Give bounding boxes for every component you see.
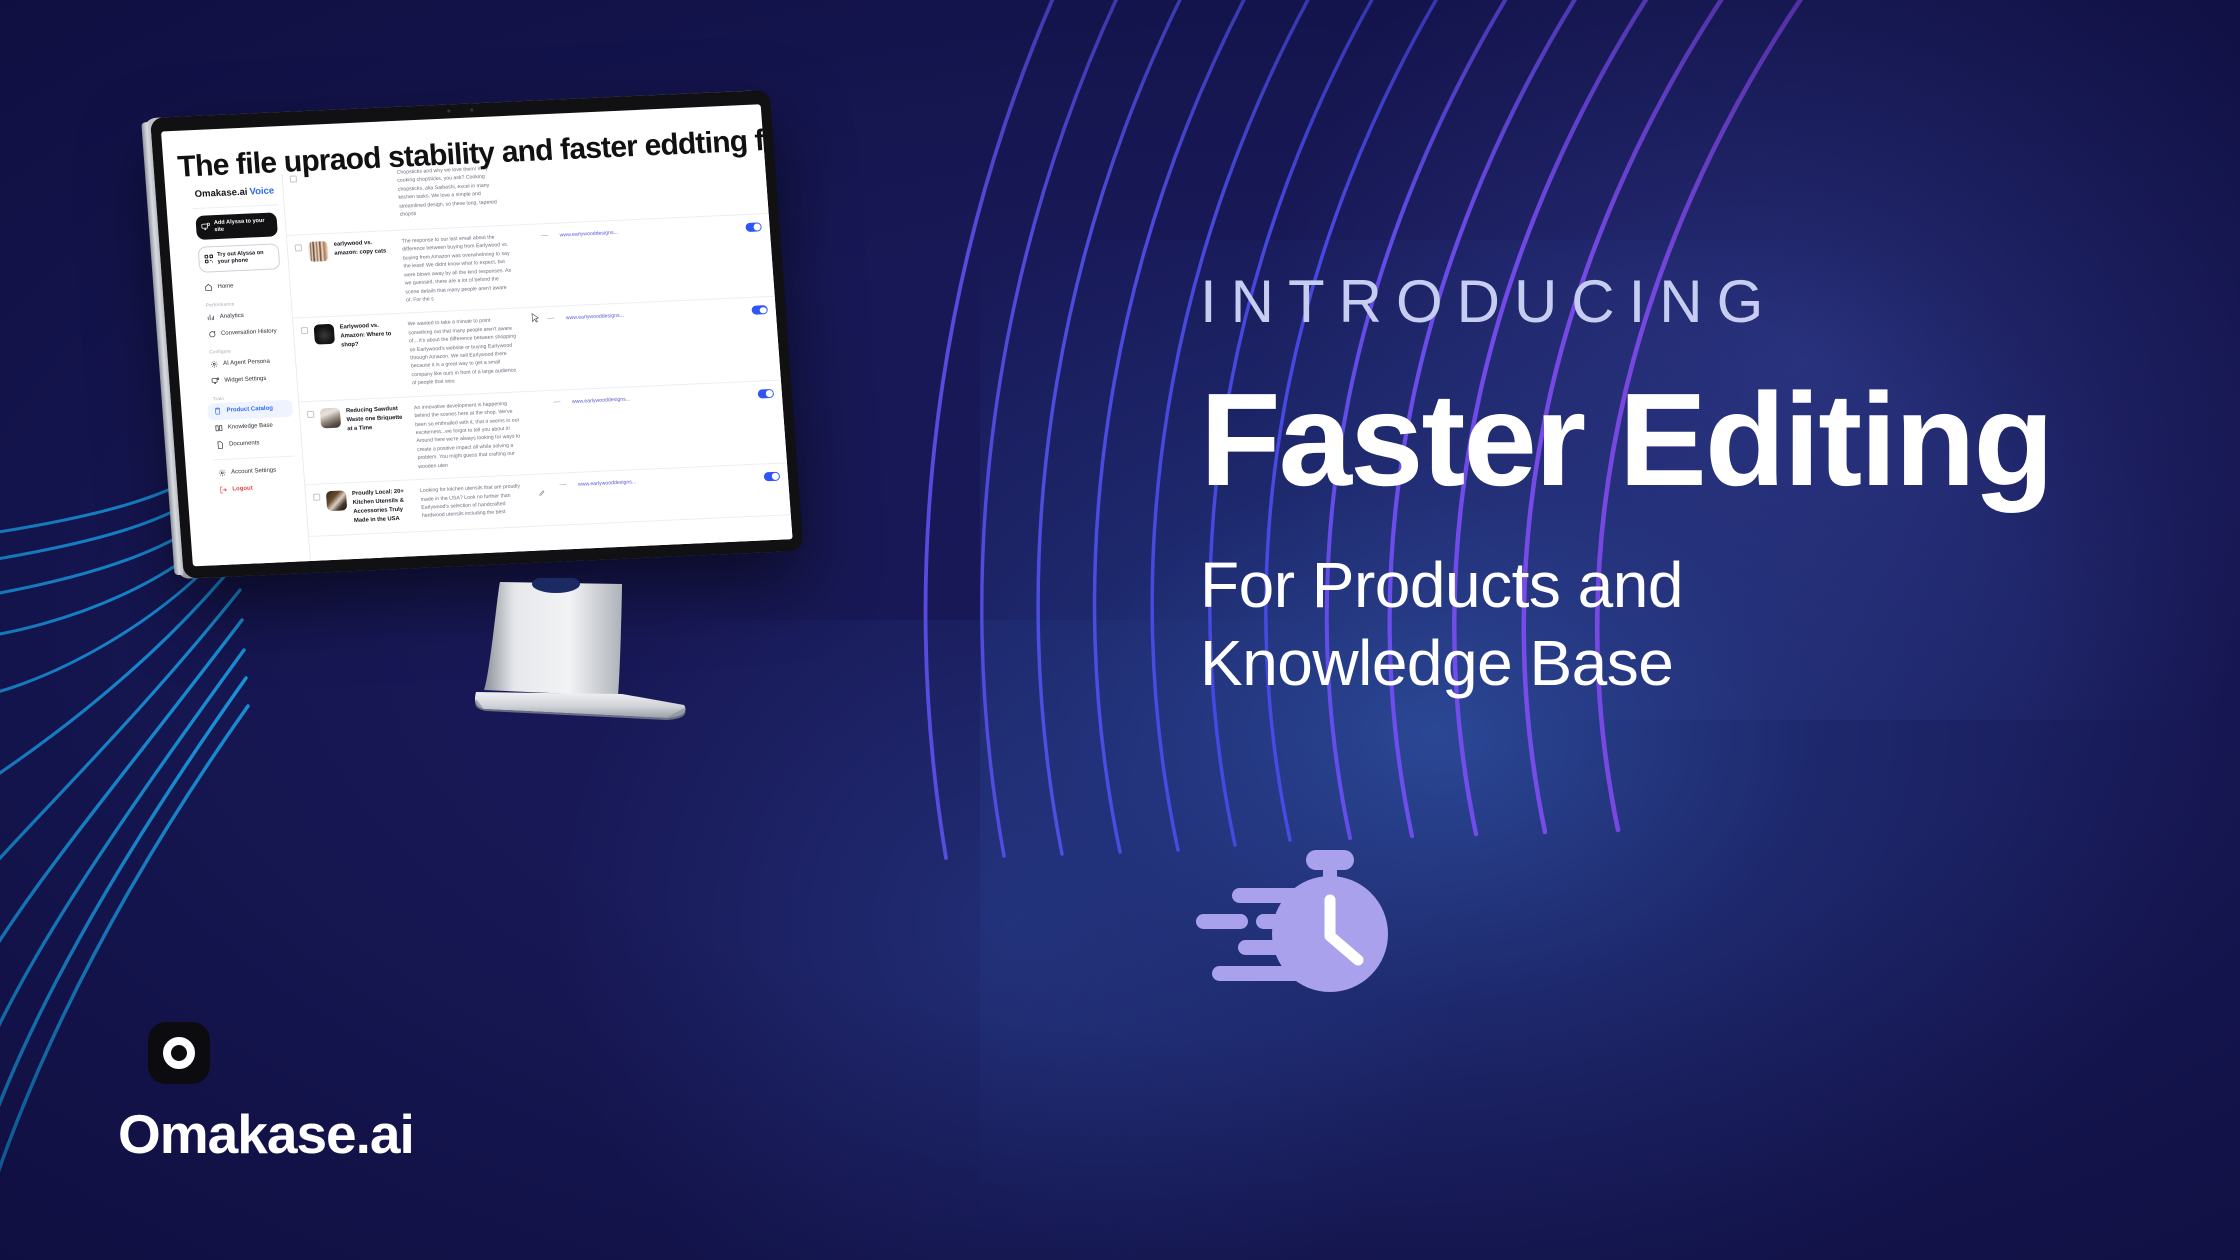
sidebar-label-documents: Documents [229,441,260,448]
promo-text-block: INTRODUCING Faster Editing For Products … [1200,272,2210,702]
row-thumbnail [320,407,341,428]
row-title: earlywood vs. amazon: copy cats [333,238,396,259]
webcam-dots [447,108,473,113]
row-checkbox[interactable] [301,327,309,334]
row-thumbnail [314,324,335,345]
try-alyssa-label: Try out Alyssa on your phone [217,249,274,265]
subheadline-line-2: Knowledge Base [1200,624,2210,702]
row-enabled-toggle[interactable] [757,388,774,399]
row-edit-icon-slot [515,232,529,235]
row-title: Reducing Sawdust Waste one Briquette at … [346,404,410,434]
sidebar-logo[interactable]: Omakase.aiVoice [191,180,278,209]
qr-code-icon [204,255,214,264]
sidebar-label-home: Home [217,284,233,291]
sidebar-label-logout: Logout [232,486,253,493]
clipboard-icon [213,407,222,415]
subheadline-text: For Products and Knowledge Base [1200,546,2210,702]
pencil-icon [538,489,546,496]
subheadline-line-1: For Products and [1200,546,2210,624]
monitor-gear-icon [211,377,220,385]
sidebar-divider [213,456,294,461]
omakase-ring-logo [148,1022,210,1084]
add-alyssa-to-site-button[interactable]: Add Alyssa to your site [195,212,278,240]
logout-icon [219,486,228,494]
sidebar-label-product-catalog: Product Catalog [226,406,273,414]
stopwatch-speed-icon [1190,838,1430,998]
promo-graphic: The file upraod stability and faster edd… [0,0,2240,1260]
sidebar-label-conversation-history: Conversation History [221,329,277,338]
row-edit-button[interactable] [534,481,549,502]
brand-name: Omakase.ai [118,1102,538,1166]
omakase-app-window: Omakase.aiVoice Add Alyssa to your site [185,152,793,565]
sidebar-label-widget-settings: Widget Settings [224,376,266,384]
row-dash: — [548,397,567,406]
sidebar-item-documents[interactable]: Documents [210,434,296,455]
sidebar-logo-primary: Omakase.ai [194,187,248,200]
monitor-screen: The file upraod stability and faster edd… [161,104,793,566]
sidebar-item-logout[interactable]: Logout [213,478,299,499]
row-edit-icon-slot [528,398,542,401]
home-icon [204,284,213,292]
row-enabled-toggle[interactable] [764,471,781,482]
headline-text: Faster Editing [1200,374,2210,506]
product-catalog-table[interactable]: Chopsticks and why we love them! Why coo… [282,152,792,561]
add-alyssa-label: Add Alyssa to your site [214,218,273,235]
monitor-mockup: The file upraod stability and faster edd… [150,90,803,579]
row-description: We wanted to take a minute to point some… [408,316,521,388]
row-title: Proudly Local: 20+ Kitchen Utensils & Ac… [352,487,417,526]
sidebar-label-account-settings: Account Settings [231,468,276,476]
row-checkbox[interactable] [307,411,315,418]
document-icon [216,441,225,449]
mouse-cursor-icon [531,312,540,323]
row-title: Earlywood vs. Amazon: Where to shop? [340,321,404,351]
row-description: An innovative development is happening b… [414,399,527,471]
gear-icon [218,469,227,477]
row-thumbnail [307,241,328,262]
sidebar-logo-secondary: Voice [249,185,274,197]
row-dash: — [535,231,554,240]
row-enabled-toggle[interactable] [751,304,768,315]
row-thumbnail [326,490,347,511]
row-description: The response to our last email about the… [401,233,514,305]
sidebar-label-analytics: Analytics [220,313,244,320]
book-icon [215,424,224,432]
monitor-bezel: The file upraod stability and faster edd… [150,90,803,579]
row-url[interactable]: www.earlywooddesigns... [578,477,651,488]
row-url[interactable]: www.earlywooddesigns... [572,394,645,405]
monitor-plus-icon [201,223,211,232]
monitor-stand [470,578,730,738]
bar-chart-icon [207,314,216,322]
row-dash: — [541,314,560,323]
eyebrow-text: INTRODUCING [1200,272,2210,332]
sidebar-label-ai-agent-persona: AI Agent Persona [223,359,270,367]
brand-lockup: Omakase.ai [118,1022,538,1166]
chat-bubble-icon [208,331,217,339]
try-alyssa-phone-button[interactable]: Try out Alyssa on your phone [198,243,281,273]
row-checkbox[interactable] [313,494,321,501]
row-url[interactable]: www.earlywooddesigns... [565,310,638,321]
row-enabled-toggle[interactable] [745,221,762,232]
row-checkbox[interactable] [295,244,303,251]
row-url[interactable]: www.earlywooddesigns... [559,227,632,238]
row-dash: — [554,480,573,489]
sidebar-label-knowledge-base: Knowledge Base [228,423,273,431]
row-description: Looking for kitchen utensils that are pr… [420,482,530,520]
gear-icon [210,361,219,369]
